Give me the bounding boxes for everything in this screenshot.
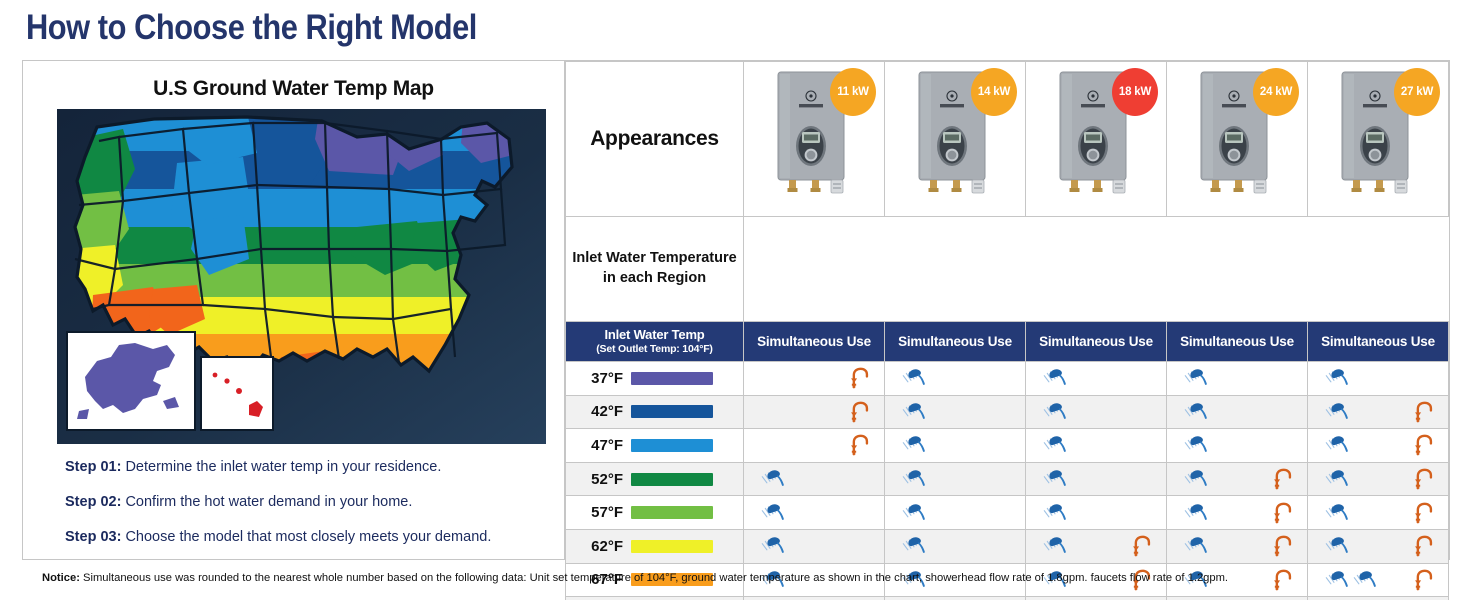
us-map-svg	[57, 109, 546, 444]
temp-cell-5: 62°F	[566, 529, 744, 563]
table-header-row-simultaneous: Inlet Water Temp (Set Outlet Temp: 104°F…	[566, 322, 1449, 362]
usage-cell-r4-c0	[744, 496, 885, 530]
showerhead-icon	[1324, 366, 1350, 390]
temp-cell-2: 47°F	[566, 429, 744, 463]
product-cell-1: 14 kW	[885, 62, 1026, 217]
temp-color-bar	[631, 439, 713, 452]
temp-cell-3: 52°F	[566, 462, 744, 496]
usage-cell-r3-c1	[885, 462, 1026, 496]
faucet-icon	[1273, 467, 1293, 491]
model-comparison-table: Appearances 11 kW 14 kW	[565, 61, 1449, 600]
showerhead-icon	[760, 467, 786, 491]
usage-cell-r5-c4	[1308, 529, 1449, 563]
inlet-water-temp-column-header: Inlet Water Temp (Set Outlet Temp: 104°F…	[566, 322, 744, 362]
faucet-icon	[850, 433, 870, 457]
hawaii-inset	[201, 357, 273, 430]
usage-cell-r1-c4	[1308, 395, 1449, 429]
usage-cell-r4-c2	[1026, 496, 1167, 530]
kw-badge-0: 11 kW	[830, 68, 876, 116]
temp-cell-4: 57°F	[566, 496, 744, 530]
table-row: 37°F	[566, 362, 1449, 396]
usage-cell-r2-c2	[1026, 429, 1167, 463]
showerhead-icon	[901, 433, 927, 457]
showerhead-icon	[1324, 433, 1350, 457]
comparison-table-panel: Appearances 11 kW 14 kW	[565, 61, 1449, 559]
showerhead-icon	[1042, 366, 1068, 390]
showerhead-icon	[901, 467, 927, 491]
showerhead-icon	[1042, 400, 1068, 424]
usage-cell-r1-c2	[1026, 395, 1167, 429]
kw-badge-1: 14 kW	[971, 68, 1017, 116]
step-item: Step 02: Confirm the hot water demand in…	[65, 494, 545, 510]
table-row: 42°F	[566, 395, 1449, 429]
usage-cell-r3-c2	[1026, 462, 1167, 496]
table-row: 72°F	[566, 597, 1449, 600]
table-row: 62°F	[566, 529, 1449, 563]
usage-cell-r5-c2	[1026, 529, 1167, 563]
usage-cell-r3-c4	[1308, 462, 1449, 496]
usage-cell-r5-c0	[744, 529, 885, 563]
usage-cell-r4-c4	[1308, 496, 1449, 530]
step-label: Step 01:	[65, 459, 121, 475]
usage-cell-r7-c0	[744, 597, 885, 600]
usage-cell-r2-c1	[885, 429, 1026, 463]
showerhead-icon	[901, 366, 927, 390]
usage-cell-r3-c0	[744, 462, 885, 496]
product-cell-4: 27 kW	[1308, 62, 1449, 217]
showerhead-icon	[760, 534, 786, 558]
simultaneous-use-header-1: Simultaneous Use	[885, 322, 1026, 362]
step-label: Step 03:	[65, 529, 121, 545]
usage-cell-r5-c1	[885, 529, 1026, 563]
usage-cell-r0-c0	[744, 362, 885, 396]
notice-text: Simultaneous use was rounded to the near…	[83, 572, 1228, 584]
usage-cell-r0-c1	[885, 362, 1026, 396]
page-title: How to Choose the Right Model	[26, 8, 477, 48]
inlet-col-subtitle: (Set Outlet Temp: 104°F)	[566, 343, 743, 356]
faucet-icon	[1414, 501, 1434, 525]
kw-badge-4: 27 kW	[1394, 68, 1440, 116]
simultaneous-use-header-0: Simultaneous Use	[744, 322, 885, 362]
showerhead-icon	[1183, 366, 1209, 390]
inlet-water-temperature-header: Inlet Water Temperature in each Region	[566, 217, 744, 322]
faucet-icon	[1273, 501, 1293, 525]
usage-cell-r7-c3	[1167, 597, 1308, 600]
showerhead-icon	[1183, 501, 1209, 525]
simultaneous-use-header-2: Simultaneous Use	[1026, 322, 1167, 362]
faucet-icon	[1273, 534, 1293, 558]
content-frame: U.S Ground Water Temp Map	[22, 60, 1450, 560]
faucet-icon	[1414, 467, 1434, 491]
showerhead-icon	[1042, 433, 1068, 457]
usage-cell-r2-c3	[1167, 429, 1308, 463]
step-text: Determine the inlet water temp in your r…	[125, 459, 441, 475]
table-row: 52°F	[566, 462, 1449, 496]
faucet-icon	[1273, 568, 1293, 592]
temp-cell-7: 72°F	[566, 597, 744, 600]
showerhead-icon	[760, 501, 786, 525]
step-label: Step 02:	[65, 494, 121, 510]
step-text: Confirm the hot water demand in your hom…	[125, 494, 412, 510]
step-item: Step 03: Choose the model that most clos…	[65, 529, 545, 545]
showerhead-icon	[1324, 568, 1350, 592]
table-row: 57°F	[566, 496, 1449, 530]
temp-color-bar	[631, 540, 713, 553]
us-ground-water-temperature-map	[57, 109, 546, 444]
showerhead-icon	[901, 501, 927, 525]
showerhead-icon	[1324, 534, 1350, 558]
showerhead-icon	[1352, 568, 1378, 592]
showerhead-icon	[1183, 467, 1209, 491]
alaska-inset	[67, 332, 195, 430]
inlet-col-title: Inlet Water Temp	[604, 327, 704, 342]
showerhead-icon	[1183, 534, 1209, 558]
temp-label: 52°F	[591, 471, 623, 488]
step-item: Step 01: Determine the inlet water temp …	[65, 459, 545, 475]
simultaneous-use-header-3: Simultaneous Use	[1167, 322, 1308, 362]
usage-cell-r2-c0	[744, 429, 885, 463]
usage-cell-r4-c1	[885, 496, 1026, 530]
usage-cell-r1-c1	[885, 395, 1026, 429]
notice: Notice: Simultaneous use was rounded to …	[42, 572, 1228, 584]
usage-cell-r3-c3	[1167, 462, 1308, 496]
showerhead-icon	[1324, 467, 1350, 491]
showerhead-icon	[901, 400, 927, 424]
usage-cell-r1-c0	[744, 395, 885, 429]
product-cell-2: 18 kW	[1026, 62, 1167, 217]
temp-color-bar	[631, 372, 713, 385]
product-cell-0: 11 kW	[744, 62, 885, 217]
showerhead-icon	[1183, 400, 1209, 424]
table-row: 47°F	[566, 429, 1449, 463]
temp-label: 47°F	[591, 437, 623, 454]
temp-label: 42°F	[591, 403, 623, 420]
usage-cell-r5-c3	[1167, 529, 1308, 563]
faucet-icon	[850, 366, 870, 390]
temp-color-bar	[631, 473, 713, 486]
kw-badge-2: 18 kW	[1112, 68, 1158, 116]
infographic-root: How to Choose the Right Model U.S Ground…	[0, 0, 1464, 600]
step-text: Choose the model that most closely meets…	[125, 529, 491, 545]
steps-list: Step 01: Determine the inlet water temp …	[65, 459, 545, 564]
map-panel: U.S Ground Water Temp Map	[23, 61, 565, 559]
faucet-icon	[850, 400, 870, 424]
usage-cell-r0-c3	[1167, 362, 1308, 396]
usage-cell-r1-c3	[1167, 395, 1308, 429]
faucet-icon	[1414, 400, 1434, 424]
notice-label: Notice:	[42, 572, 80, 584]
temp-cell-1: 42°F	[566, 395, 744, 429]
product-cell-3: 24 kW	[1167, 62, 1308, 217]
usage-cell-r2-c4	[1308, 429, 1449, 463]
appearances-header: Appearances	[566, 62, 744, 217]
map-title: U.S Ground Water Temp Map	[23, 77, 564, 101]
kw-badge-3: 24 kW	[1253, 68, 1299, 116]
temp-cell-0: 37°F	[566, 362, 744, 396]
temp-label: 37°F	[591, 370, 623, 387]
usage-cell-r0-c2	[1026, 362, 1167, 396]
table-row-inlet-description: Inlet Water Temperature in each Region	[566, 217, 1449, 322]
faucet-icon	[1414, 534, 1434, 558]
temp-color-bar	[631, 506, 713, 519]
faucet-icon	[1414, 568, 1434, 592]
usage-cell-r6-c4	[1308, 563, 1449, 597]
usage-cell-r0-c4	[1308, 362, 1449, 396]
usage-cell-r7-c4	[1308, 597, 1449, 600]
usage-cell-r7-c1	[885, 597, 1026, 600]
showerhead-icon	[1324, 501, 1350, 525]
showerhead-icon	[1042, 467, 1068, 491]
showerhead-icon	[1324, 400, 1350, 424]
temp-label: 62°F	[591, 538, 623, 555]
faucet-icon	[1414, 433, 1434, 457]
temp-color-bar	[631, 405, 713, 418]
showerhead-icon	[1183, 433, 1209, 457]
temp-label: 57°F	[591, 504, 623, 521]
usage-cell-r4-c3	[1167, 496, 1308, 530]
faucet-icon	[1132, 534, 1152, 558]
showerhead-icon	[1042, 501, 1068, 525]
showerhead-icon	[1042, 534, 1068, 558]
showerhead-icon	[901, 534, 927, 558]
simultaneous-use-header-4: Simultaneous Use	[1308, 322, 1449, 362]
usage-cell-r7-c2	[1026, 597, 1167, 600]
